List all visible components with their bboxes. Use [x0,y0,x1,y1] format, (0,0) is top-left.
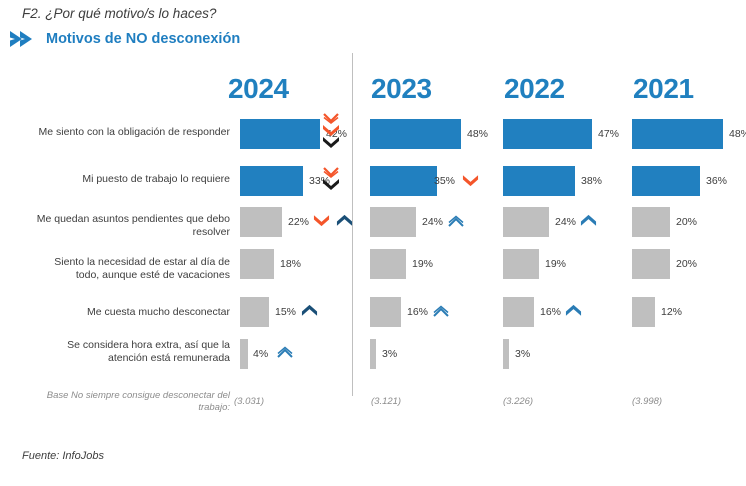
chevron-up-outline-icon [432,304,450,323]
chevron-right-icon [10,29,36,49]
bar-2024-row-1 [240,166,303,196]
bar-2023-row-3 [370,249,406,279]
indicator-2023-row-1 [462,174,479,192]
column-header-2023: 2023 [371,73,432,105]
bar-2024-row-0 [240,119,320,149]
bar-value-2023-row-5: 3% [382,339,397,369]
bar-value-2024-row-2: 22% [288,207,309,237]
bar-2024-row-4 [240,297,269,327]
bar-value-2024-row-4: 15% [275,297,296,327]
indicator-2024-row-2 [313,214,353,232]
bar-2023-row-2 [370,207,416,237]
bar-2021-row-4 [632,297,655,327]
indicator-2023-row-2 [447,214,465,233]
indicator-2022-row-4 [565,304,582,322]
bar-value-2022-row-2: 24% [555,207,576,237]
row-label-5-line2: atención está remunerada [108,352,230,364]
bar-2022-row-3 [503,249,539,279]
bar-2022-row-1 [503,166,575,196]
bar-2021-row-2 [632,207,670,237]
bar-2023-row-4 [370,297,401,327]
indicator-2024-row-5 [276,345,294,364]
bar-2021-row-0 [632,119,723,149]
bar-2023-row-0 [370,119,461,149]
source-note: Fuente: InfoJobs [22,450,104,462]
indicator-2024-row-4 [301,304,318,322]
chevron-up-icon [336,214,353,232]
indicator-2022-row-2 [580,214,597,232]
chevron-up-icon [301,304,318,322]
base-value-2024: (3.031) [234,396,264,407]
bar-value-2024-row-3: 18% [280,249,301,279]
row-label-4: Me cuesta mucho desconectar [10,306,230,319]
bar-value-2022-row-4: 16% [540,297,561,327]
row-label-1: Mi puesto de trabajo lo requiere [10,173,230,186]
bar-2021-row-1 [632,166,700,196]
chevron-up-icon [565,304,582,322]
bar-value-2023-row-4: 16% [407,297,428,327]
indicator-2024-row-0 [322,112,340,148]
row-label-2-line1: Me quedan asuntos pendientes que debo [37,213,230,225]
row-label-0: Me siento con la obligación de responder [10,126,230,139]
bar-value-2021-row-0: 48% [729,119,746,149]
bar-value-2021-row-4: 12% [661,297,682,327]
column-header-2022: 2022 [504,73,565,105]
bar-value-2021-row-3: 20% [676,249,697,279]
row-label-5-line1: Se considera hora extra, así que la [67,339,230,351]
chevron-down-icon [462,174,479,192]
bar-value-2022-row-0: 47% [598,119,619,149]
base-value-2021: (3.998) [632,396,662,407]
row-label-3: Siento la necesidad de estar al día de t… [10,256,230,282]
indicator-2024-row-1 [322,166,340,190]
page-subtitle: Motivos de NO desconexión [46,31,240,47]
bar-value-2021-row-1: 36% [706,166,727,196]
subtitle-row: Motivos de NO desconexión [10,29,240,49]
bar-value-2022-row-5: 3% [515,339,530,369]
bar-2022-row-2 [503,207,549,237]
bar-value-2023-row-3: 19% [412,249,433,279]
bar-value-2022-row-1: 38% [581,166,602,196]
row-label-2: Me quedan asuntos pendientes que debo re… [10,213,230,239]
bar-2024-row-2 [240,207,282,237]
chevron-up-icon [580,214,597,232]
column-header-2024: 2024 [228,73,289,105]
base-label: Base No siempre consigue desconectar del… [20,390,230,414]
bar-2022-row-4 [503,297,534,327]
chevron-triple-down-icon [322,112,340,148]
column-header-2021: 2021 [633,73,694,105]
chevron-down-icon [313,214,330,232]
row-label-2-line2: resolver [193,226,230,238]
base-value-2023: (3.121) [371,396,401,407]
bar-value-2021-row-2: 20% [676,207,697,237]
chevron-up-outline-icon [447,214,465,233]
chevron-double-down-icon [322,166,340,190]
bar-value-2023-row-1: 35% [434,166,455,196]
indicator-2023-row-4 [432,304,450,323]
bar-2023-row-1 [370,166,437,196]
chevron-up-outline-icon [276,345,294,364]
bar-2022-row-0 [503,119,592,149]
bar-value-2022-row-3: 19% [545,249,566,279]
bar-value-2023-row-2: 24% [422,207,443,237]
bar-2023-row-5 [370,339,376,369]
bar-2022-row-5 [503,339,509,369]
row-label-5: Se considera hora extra, así que la aten… [10,339,230,365]
bar-value-2023-row-0: 48% [467,119,488,149]
base-value-2022: (3.226) [503,396,533,407]
row-label-3-line1: Siento la necesidad de estar al día de [54,256,230,268]
bar-2021-row-3 [632,249,670,279]
bar-2024-row-3 [240,249,274,279]
row-label-3-line2: todo, aunque esté de vacaciones [76,269,230,281]
bar-value-2024-row-5: 4% [253,339,268,369]
page-title: F2. ¿Por qué motivo/s lo haces? [22,6,216,21]
bar-2024-row-5 [240,339,248,369]
